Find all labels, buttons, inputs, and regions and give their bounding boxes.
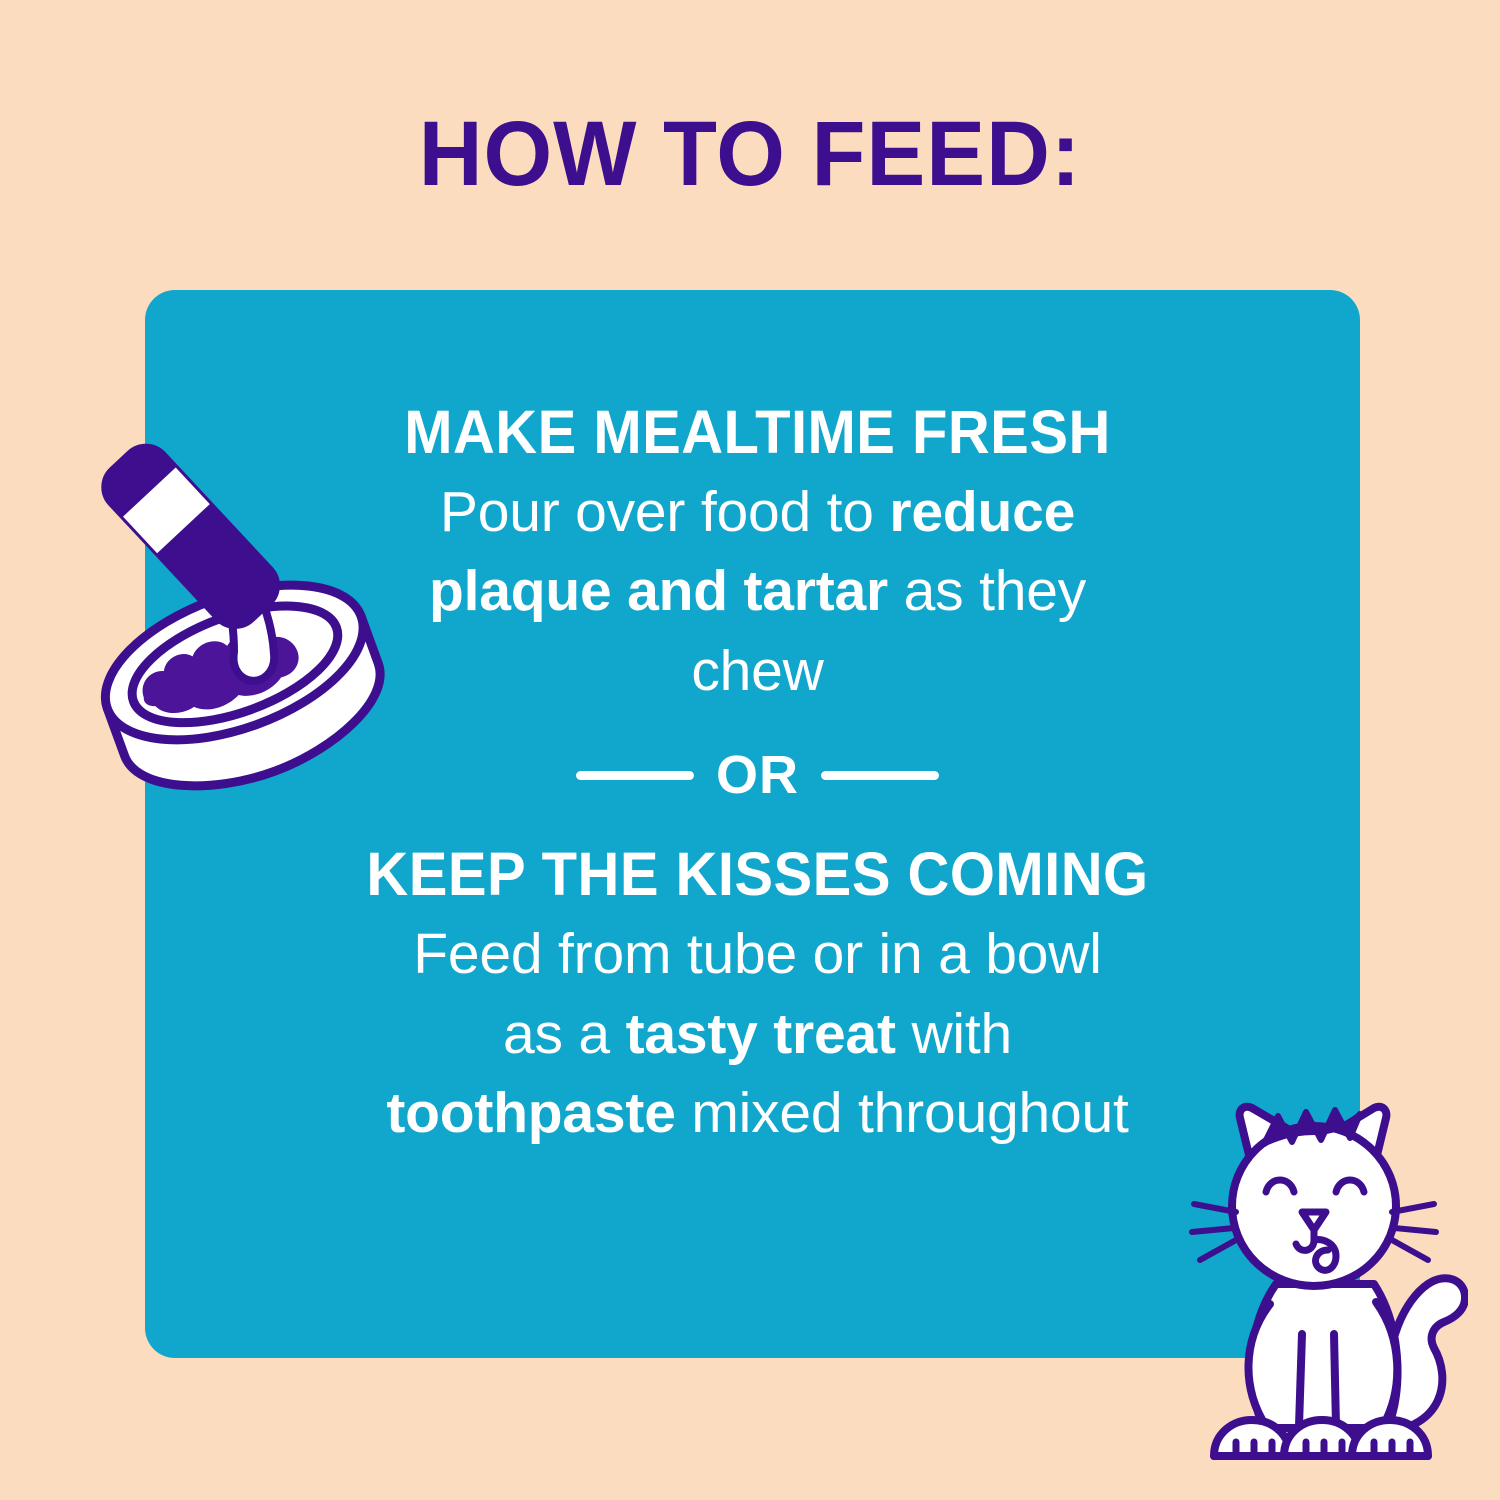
cat-paws	[1214, 1420, 1428, 1456]
option-two-line3-bold: toothpaste	[386, 1081, 675, 1145]
option-two-line3-plain: mixed throughout	[676, 1081, 1129, 1145]
option-one-line2-bold: plaque and tartar	[429, 559, 888, 623]
cat-icon	[1178, 1088, 1468, 1466]
option-one-line1-bold: reduce	[889, 480, 1075, 544]
or-label: OR	[716, 748, 799, 802]
option-two-line2-plain-b: with	[896, 1002, 1012, 1066]
page-title: HOW TO FEED:	[30, 108, 1470, 200]
cat-whiskers-right	[1392, 1204, 1436, 1260]
option-two-heading: KEEP THE KISSES COMING	[351, 842, 1163, 907]
option-two-line2-bold: tasty treat	[626, 1002, 896, 1066]
option-two-body: Feed from tube or in a bowl as a tasty t…	[330, 915, 1185, 1154]
option-one-line3-plain: chew	[691, 639, 823, 703]
poster-canvas: HOW TO FEED:	[0, 0, 1500, 1500]
divider-rule-left	[576, 771, 694, 780]
option-one-heading: MAKE MEALTIME FRESH	[351, 400, 1163, 465]
option-one-line2-plain: as they	[888, 559, 1086, 623]
option-one-body: Pour over food to reduce plaque and tart…	[330, 473, 1185, 712]
cat-whiskers-left	[1192, 1204, 1236, 1260]
option-two: KEEP THE KISSES COMING Feed from tube or…	[330, 842, 1185, 1154]
or-divider: OR	[330, 748, 1185, 802]
option-two-line1-plain: Feed from tube or in a bowl	[413, 922, 1101, 986]
instructions-block: MAKE MEALTIME FRESH Pour over food to re…	[330, 400, 1185, 1154]
divider-rule-right	[821, 771, 939, 780]
option-one-line1-plain: Pour over food to	[440, 480, 890, 544]
option-one: MAKE MEALTIME FRESH Pour over food to re…	[330, 400, 1185, 712]
option-two-line2-plain-a: as a	[503, 1002, 626, 1066]
